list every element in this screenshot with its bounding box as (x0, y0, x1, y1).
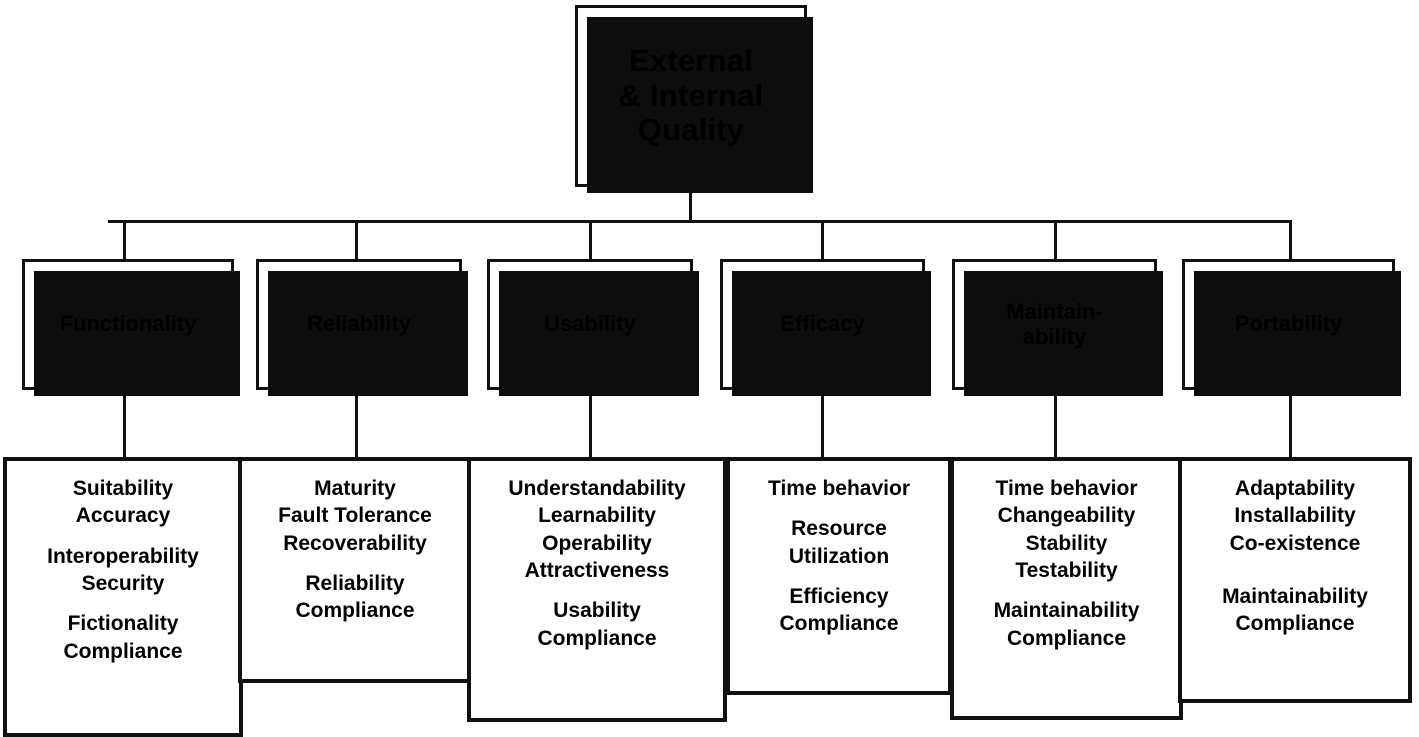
leaf-box-efficacy: Time behavior Resource Utilization Effic… (726, 457, 952, 695)
leaf-item: Recoverability (242, 530, 468, 557)
connector-bus-to-portability (1289, 220, 1292, 260)
category-box-efficacy: Efficacy (720, 259, 925, 390)
leaf-item: Compliance (242, 597, 468, 624)
connector-maintainability-to-leaf (1054, 390, 1057, 457)
leaf-list-maintainability: Time behavior Changeability Stability Te… (954, 475, 1179, 652)
category-label-line: Reliability (307, 312, 411, 337)
category-label-line: Usability (544, 312, 636, 337)
leaf-item-spacer (730, 502, 948, 515)
category-label-line-1: Maintain- (1006, 300, 1103, 325)
connector-bus (108, 220, 1291, 223)
leaf-item: Understandability (471, 475, 723, 502)
root-node-label-line-1: External (619, 44, 764, 79)
leaf-item: Attractiveness (471, 557, 723, 584)
leaf-item-spacer (954, 584, 1179, 597)
leaf-item: Compliance (7, 638, 239, 665)
connector-bus-to-usability (589, 220, 592, 260)
connector-functionality-to-leaf (123, 390, 126, 457)
root-node-external-internal-quality: External & Internal Quality (575, 5, 807, 187)
leaf-box-functionality: Suitability Accuracy Interoperability Se… (3, 457, 243, 737)
category-label-maintainability: Maintain- ability (1006, 300, 1103, 349)
leaf-list-portability: Adaptability Installability Co-existence… (1182, 475, 1408, 638)
leaf-item: Interoperability (7, 543, 239, 570)
leaf-list-usability: Understandability Learnability Operabili… (471, 475, 723, 652)
leaf-item: Resource (730, 515, 948, 542)
diagram-canvas: External & Internal Quality Functionalit… (0, 0, 1419, 737)
leaf-item-spacer (1182, 570, 1408, 583)
leaf-item: Adaptability (1182, 475, 1408, 502)
leaf-box-portability: Adaptability Installability Co-existence… (1178, 457, 1412, 703)
leaf-item-spacer (7, 530, 239, 543)
category-label-line: Functionality (60, 312, 197, 337)
category-box-functionality: Functionality (22, 259, 234, 390)
connector-bus-to-efficacy (821, 220, 824, 260)
leaf-item-spacer (730, 570, 948, 583)
root-node-label: External & Internal Quality (613, 44, 770, 148)
leaf-item: Fault Tolerance (242, 502, 468, 529)
category-label-line: Portability (1235, 312, 1343, 337)
leaf-item-spacer (242, 557, 468, 570)
category-label-portability: Portability (1235, 312, 1343, 337)
connector-bus-to-functionality (123, 220, 126, 260)
leaf-item: Compliance (1182, 610, 1408, 637)
root-node-label-line-3: Quality (619, 113, 764, 148)
leaf-item: Installability (1182, 502, 1408, 529)
leaf-item: Reliability (242, 570, 468, 597)
leaf-item: Utilization (730, 543, 948, 570)
leaf-item: Usability (471, 597, 723, 624)
leaf-item: Compliance (954, 625, 1179, 652)
connector-bus-to-reliability (355, 220, 358, 260)
leaf-item: Stability (954, 530, 1179, 557)
leaf-item: Accuracy (7, 502, 239, 529)
category-box-portability: Portability (1182, 259, 1395, 390)
leaf-box-maintainability: Time behavior Changeability Stability Te… (950, 457, 1183, 720)
leaf-item: Testability (954, 557, 1179, 584)
leaf-item: Suitability (7, 475, 239, 502)
leaf-item: Compliance (730, 610, 948, 637)
category-label-line-2: ability (1006, 325, 1103, 350)
leaf-list-reliability: Maturity Fault Tolerance Recoverability … (242, 475, 468, 625)
category-label-efficacy: Efficacy (780, 312, 864, 337)
leaf-list-efficacy: Time behavior Resource Utilization Effic… (730, 475, 948, 638)
category-label-functionality: Functionality (60, 312, 197, 337)
leaf-list-functionality: Suitability Accuracy Interoperability Se… (7, 475, 239, 665)
leaf-item: Co-existence (1182, 530, 1408, 557)
connector-reliability-to-leaf (355, 390, 358, 457)
connector-efficacy-to-leaf (821, 390, 824, 457)
leaf-item: Maturity (242, 475, 468, 502)
leaf-item: Time behavior (730, 475, 948, 502)
category-label-usability: Usability (544, 312, 636, 337)
leaf-item: Time behavior (954, 475, 1179, 502)
connector-usability-to-leaf (589, 390, 592, 457)
leaf-box-usability: Understandability Learnability Operabili… (467, 457, 727, 722)
leaf-item: Operability (471, 530, 723, 557)
root-node-label-line-2: & Internal (619, 79, 764, 114)
category-label-reliability: Reliability (307, 312, 411, 337)
category-label-line: Efficacy (780, 312, 864, 337)
category-box-reliability: Reliability (256, 259, 462, 390)
leaf-item: Changeability (954, 502, 1179, 529)
leaf-item-spacer (7, 597, 239, 610)
connector-bus-to-maintainability (1054, 220, 1057, 260)
leaf-box-reliability: Maturity Fault Tolerance Recoverability … (238, 457, 472, 683)
leaf-item: Maintainability (1182, 583, 1408, 610)
leaf-item: Compliance (471, 625, 723, 652)
category-box-maintainability: Maintain- ability (952, 259, 1157, 390)
leaf-item: Security (7, 570, 239, 597)
leaf-item: Efficiency (730, 583, 948, 610)
leaf-item: Fictionality (7, 610, 239, 637)
leaf-item: Learnability (471, 502, 723, 529)
leaf-item-spacer (471, 584, 723, 597)
category-box-usability: Usability (487, 259, 693, 390)
leaf-item: Maintainability (954, 597, 1179, 624)
leaf-item-spacer (1182, 557, 1408, 570)
connector-portability-to-leaf (1289, 390, 1292, 457)
